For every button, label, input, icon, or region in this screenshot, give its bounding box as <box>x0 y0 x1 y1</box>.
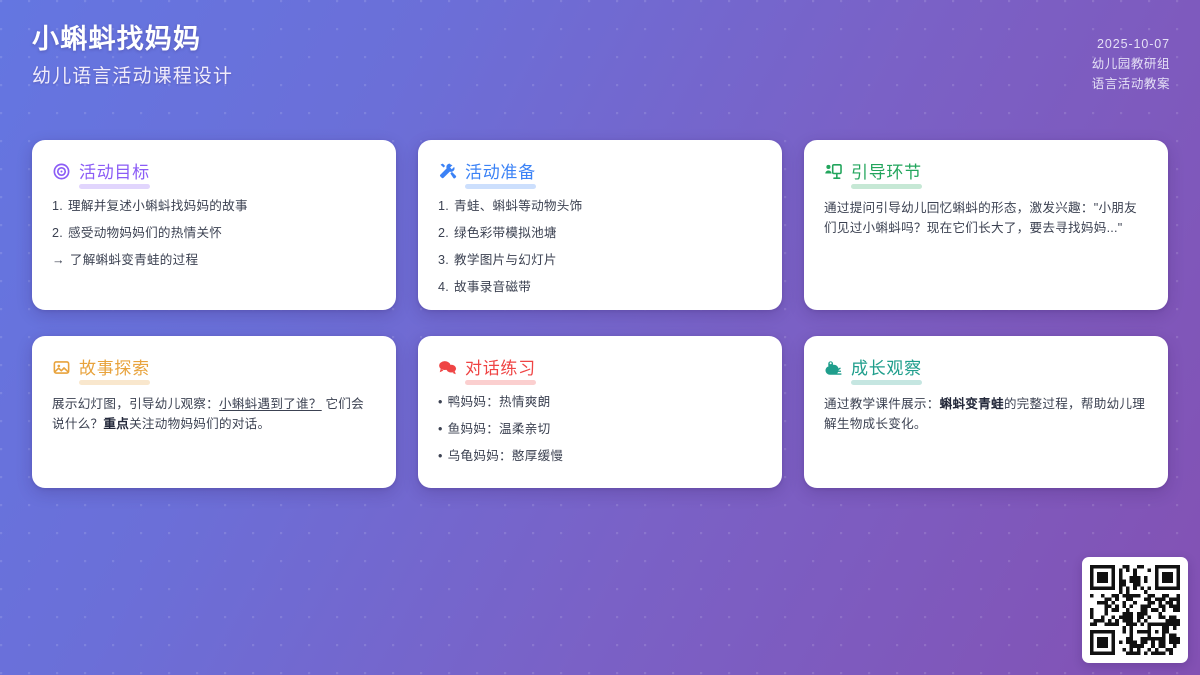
list-item: 3.教学图片与幻灯片 <box>438 252 762 269</box>
card-header: 活动准备 <box>438 158 762 185</box>
header-meta: 2025-10-07 幼儿园教研组 语言活动教案 <box>1092 26 1170 94</box>
list-item: 2.感受动物妈妈们的热情关怀 <box>52 225 376 242</box>
list-item-marker: • <box>438 448 443 465</box>
paragraph-bold-text: 蝌蚪变青蛙 <box>940 397 1004 411</box>
list-item: •鸭妈妈：热情爽朗 <box>438 394 762 411</box>
list-item-marker: 3. <box>438 252 449 269</box>
target-icon <box>52 162 71 181</box>
qr-code-box[interactable] <box>1082 557 1188 663</box>
slide-header: 小蝌蚪找妈妈 幼儿语言活动课程设计 2025-10-07 幼儿园教研组 语言活动… <box>0 0 1200 128</box>
list-item: •乌龟妈妈：憨厚缓慢 <box>438 448 762 465</box>
card-grid: 活动目标1.理解并复述小蝌蚪找妈妈的故事2.感受动物妈妈们的热情关怀→了解蝌蚪变… <box>32 140 1168 488</box>
list-item-marker: → <box>52 252 65 269</box>
list-item-label: 青蛙、蝌蚪等动物头饰 <box>454 198 762 215</box>
card-growth-observation[interactable]: 成长观察通过教学课件展示：蝌蚪变青蛙的完整过程，帮助幼儿理解生物成长变化。 <box>804 336 1168 488</box>
meta-category: 语言活动教案 <box>1092 74 1170 94</box>
card-dialogue-practice[interactable]: 对话练习•鸭妈妈：热情爽朗•鱼妈妈：温柔亲切•乌龟妈妈：憨厚缓慢 <box>418 336 782 488</box>
card-header: 引导环节 <box>824 158 1148 185</box>
card-title: 成长观察 <box>851 354 922 381</box>
meta-organization: 幼儿园教研组 <box>1092 54 1170 74</box>
page-title: 小蝌蚪找妈妈 <box>32 26 233 53</box>
list-item: 1.青蛙、蝌蚪等动物头饰 <box>438 198 762 215</box>
card-paragraph: 通过提问引导幼儿回忆蝌蚪的形态，激发兴趣："小朋友们见过小蝌蚪吗？现在它们长大了… <box>824 198 1148 238</box>
meta-date: 2025-10-07 <box>1092 34 1170 54</box>
card-guidance-stage[interactable]: 引导环节通过提问引导幼儿回忆蝌蚪的形态，激发兴趣："小朋友们见过小蝌蚪吗？现在它… <box>804 140 1168 310</box>
list-item: 1.理解并复述小蝌蚪找妈妈的故事 <box>52 198 376 215</box>
card-list: 1.青蛙、蝌蚪等动物头饰2.绿色彩带模拟池塘3.教学图片与幻灯片4.故事录音磁带 <box>438 198 762 296</box>
list-item-label: 教学图片与幻灯片 <box>454 252 762 269</box>
card-list: •鸭妈妈：热情爽朗•鱼妈妈：温柔亲切•乌龟妈妈：憨厚缓慢 <box>438 394 762 465</box>
list-item-label: 鱼妈妈：温柔亲切 <box>448 421 762 438</box>
list-item: →了解蝌蚪变青蛙的过程 <box>52 252 376 269</box>
card-list: 1.理解并复述小蝌蚪找妈妈的故事2.感受动物妈妈们的热情关怀→了解蝌蚪变青蛙的过… <box>52 198 376 269</box>
image-icon <box>52 358 71 377</box>
list-item: 4.故事录音磁带 <box>438 279 762 296</box>
page-subtitle: 幼儿语言活动课程设计 <box>32 67 233 86</box>
list-item: •鱼妈妈：温柔亲切 <box>438 421 762 438</box>
list-item-label: 了解蝌蚪变青蛙的过程 <box>70 252 376 269</box>
title-block: 小蝌蚪找妈妈 幼儿语言活动课程设计 <box>32 26 233 86</box>
list-item-marker: 2. <box>438 225 449 242</box>
card-activity-preparation[interactable]: 活动准备1.青蛙、蝌蚪等动物头饰2.绿色彩带模拟池塘3.教学图片与幻灯片4.故事… <box>418 140 782 310</box>
card-paragraph: 展示幻灯图，引导幼儿观察：小蝌蚪遇到了谁？ 它们会说什么？重点关注动物妈妈们的对… <box>52 394 376 434</box>
presentation-icon <box>824 162 843 181</box>
list-item-label: 理解并复述小蝌蚪找妈妈的故事 <box>68 198 376 215</box>
list-item-marker: 1. <box>438 198 449 215</box>
card-paragraph: 通过教学课件展示：蝌蚪变青蛙的完整过程，帮助幼儿理解生物成长变化。 <box>824 394 1148 434</box>
card-title: 活动准备 <box>465 158 536 185</box>
card-title: 引导环节 <box>851 158 922 185</box>
paragraph-bold-text: 重点 <box>103 417 129 431</box>
list-item-marker: 2. <box>52 225 63 242</box>
list-item-marker: 1. <box>52 198 63 215</box>
list-item: 2.绿色彩带模拟池塘 <box>438 225 762 242</box>
tools-icon <box>438 162 457 181</box>
list-item-label: 鸭妈妈：热情爽朗 <box>448 394 762 411</box>
paragraph-underlined-text: 小蝌蚪遇到了谁？ <box>219 397 322 411</box>
card-header: 成长观察 <box>824 354 1148 381</box>
list-item-marker: 4. <box>438 279 449 296</box>
qr-code-icon <box>1090 565 1180 655</box>
card-story-exploration[interactable]: 故事探索展示幻灯图，引导幼儿观察：小蝌蚪遇到了谁？ 它们会说什么？重点关注动物妈… <box>32 336 396 488</box>
paragraph-text: 展示幻灯图，引导幼儿观察： <box>52 397 219 411</box>
card-title: 对话练习 <box>465 354 536 381</box>
list-item-label: 乌龟妈妈：憨厚缓慢 <box>448 448 762 465</box>
card-header: 对话练习 <box>438 354 762 381</box>
list-item-marker: • <box>438 394 443 411</box>
card-title: 故事探索 <box>79 354 150 381</box>
list-item-label: 绿色彩带模拟池塘 <box>454 225 762 242</box>
paragraph-text: 通过教学课件展示： <box>824 397 940 411</box>
paragraph-text: 通过提问引导幼儿回忆蝌蚪的形态，激发兴趣："小朋友们见过小蝌蚪吗？现在它们长大了… <box>824 201 1137 235</box>
frog-icon <box>824 358 843 377</box>
card-header: 活动目标 <box>52 158 376 185</box>
card-header: 故事探索 <box>52 354 376 381</box>
chat-bubbles-icon <box>438 358 457 377</box>
list-item-marker: • <box>438 421 443 438</box>
card-title: 活动目标 <box>79 158 150 185</box>
paragraph-text: 关注动物妈妈们的对话。 <box>129 417 270 431</box>
card-activity-goals[interactable]: 活动目标1.理解并复述小蝌蚪找妈妈的故事2.感受动物妈妈们的热情关怀→了解蝌蚪变… <box>32 140 396 310</box>
list-item-label: 故事录音磁带 <box>454 279 762 296</box>
list-item-label: 感受动物妈妈们的热情关怀 <box>68 225 376 242</box>
